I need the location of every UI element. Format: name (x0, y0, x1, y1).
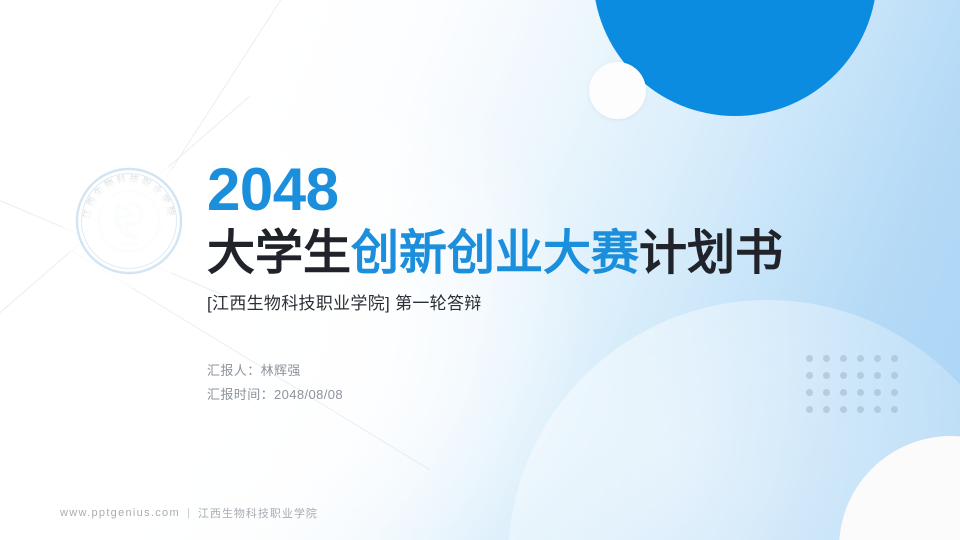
page-title: 大学生创新创业大赛计划书 (207, 228, 847, 280)
date-line: 汇报时间：2048/08/08 (207, 383, 847, 407)
footer-separator: | (187, 507, 191, 519)
presenter-line: 汇报人：林辉强 (207, 359, 847, 383)
title-tail: 计划书 (639, 227, 783, 280)
subtitle: [江西生物科技职业学院] 第一轮答辩 (207, 293, 847, 315)
title-block: 2048 大学生创新创业大赛计划书 [江西生物科技职业学院] 第一轮答辩 汇报人… (207, 160, 847, 407)
presentation-cover-slide: 江西生物科技职业学院 Jiangxi Biotech Vocational Co… (0, 0, 960, 540)
footer-site: www.pptgenius.com (60, 507, 180, 519)
title-highlight: 创新创业大赛 (351, 227, 639, 280)
footer-org: 江西生物科技职业学院 (198, 505, 318, 521)
presentation-meta: 汇报人：林辉强 汇报时间：2048/08/08 (207, 359, 847, 407)
footer: www.pptgenius.com | 江西生物科技职业学院 (60, 505, 318, 521)
year-heading: 2048 (207, 160, 847, 220)
logo-halo (62, 154, 196, 288)
title-lead: 大学生 (207, 227, 351, 280)
college-logo: 江西生物科技职业学院 Jiangxi Biotech Vocational Co… (74, 166, 184, 276)
decorative-white-accent-circle (589, 62, 646, 119)
